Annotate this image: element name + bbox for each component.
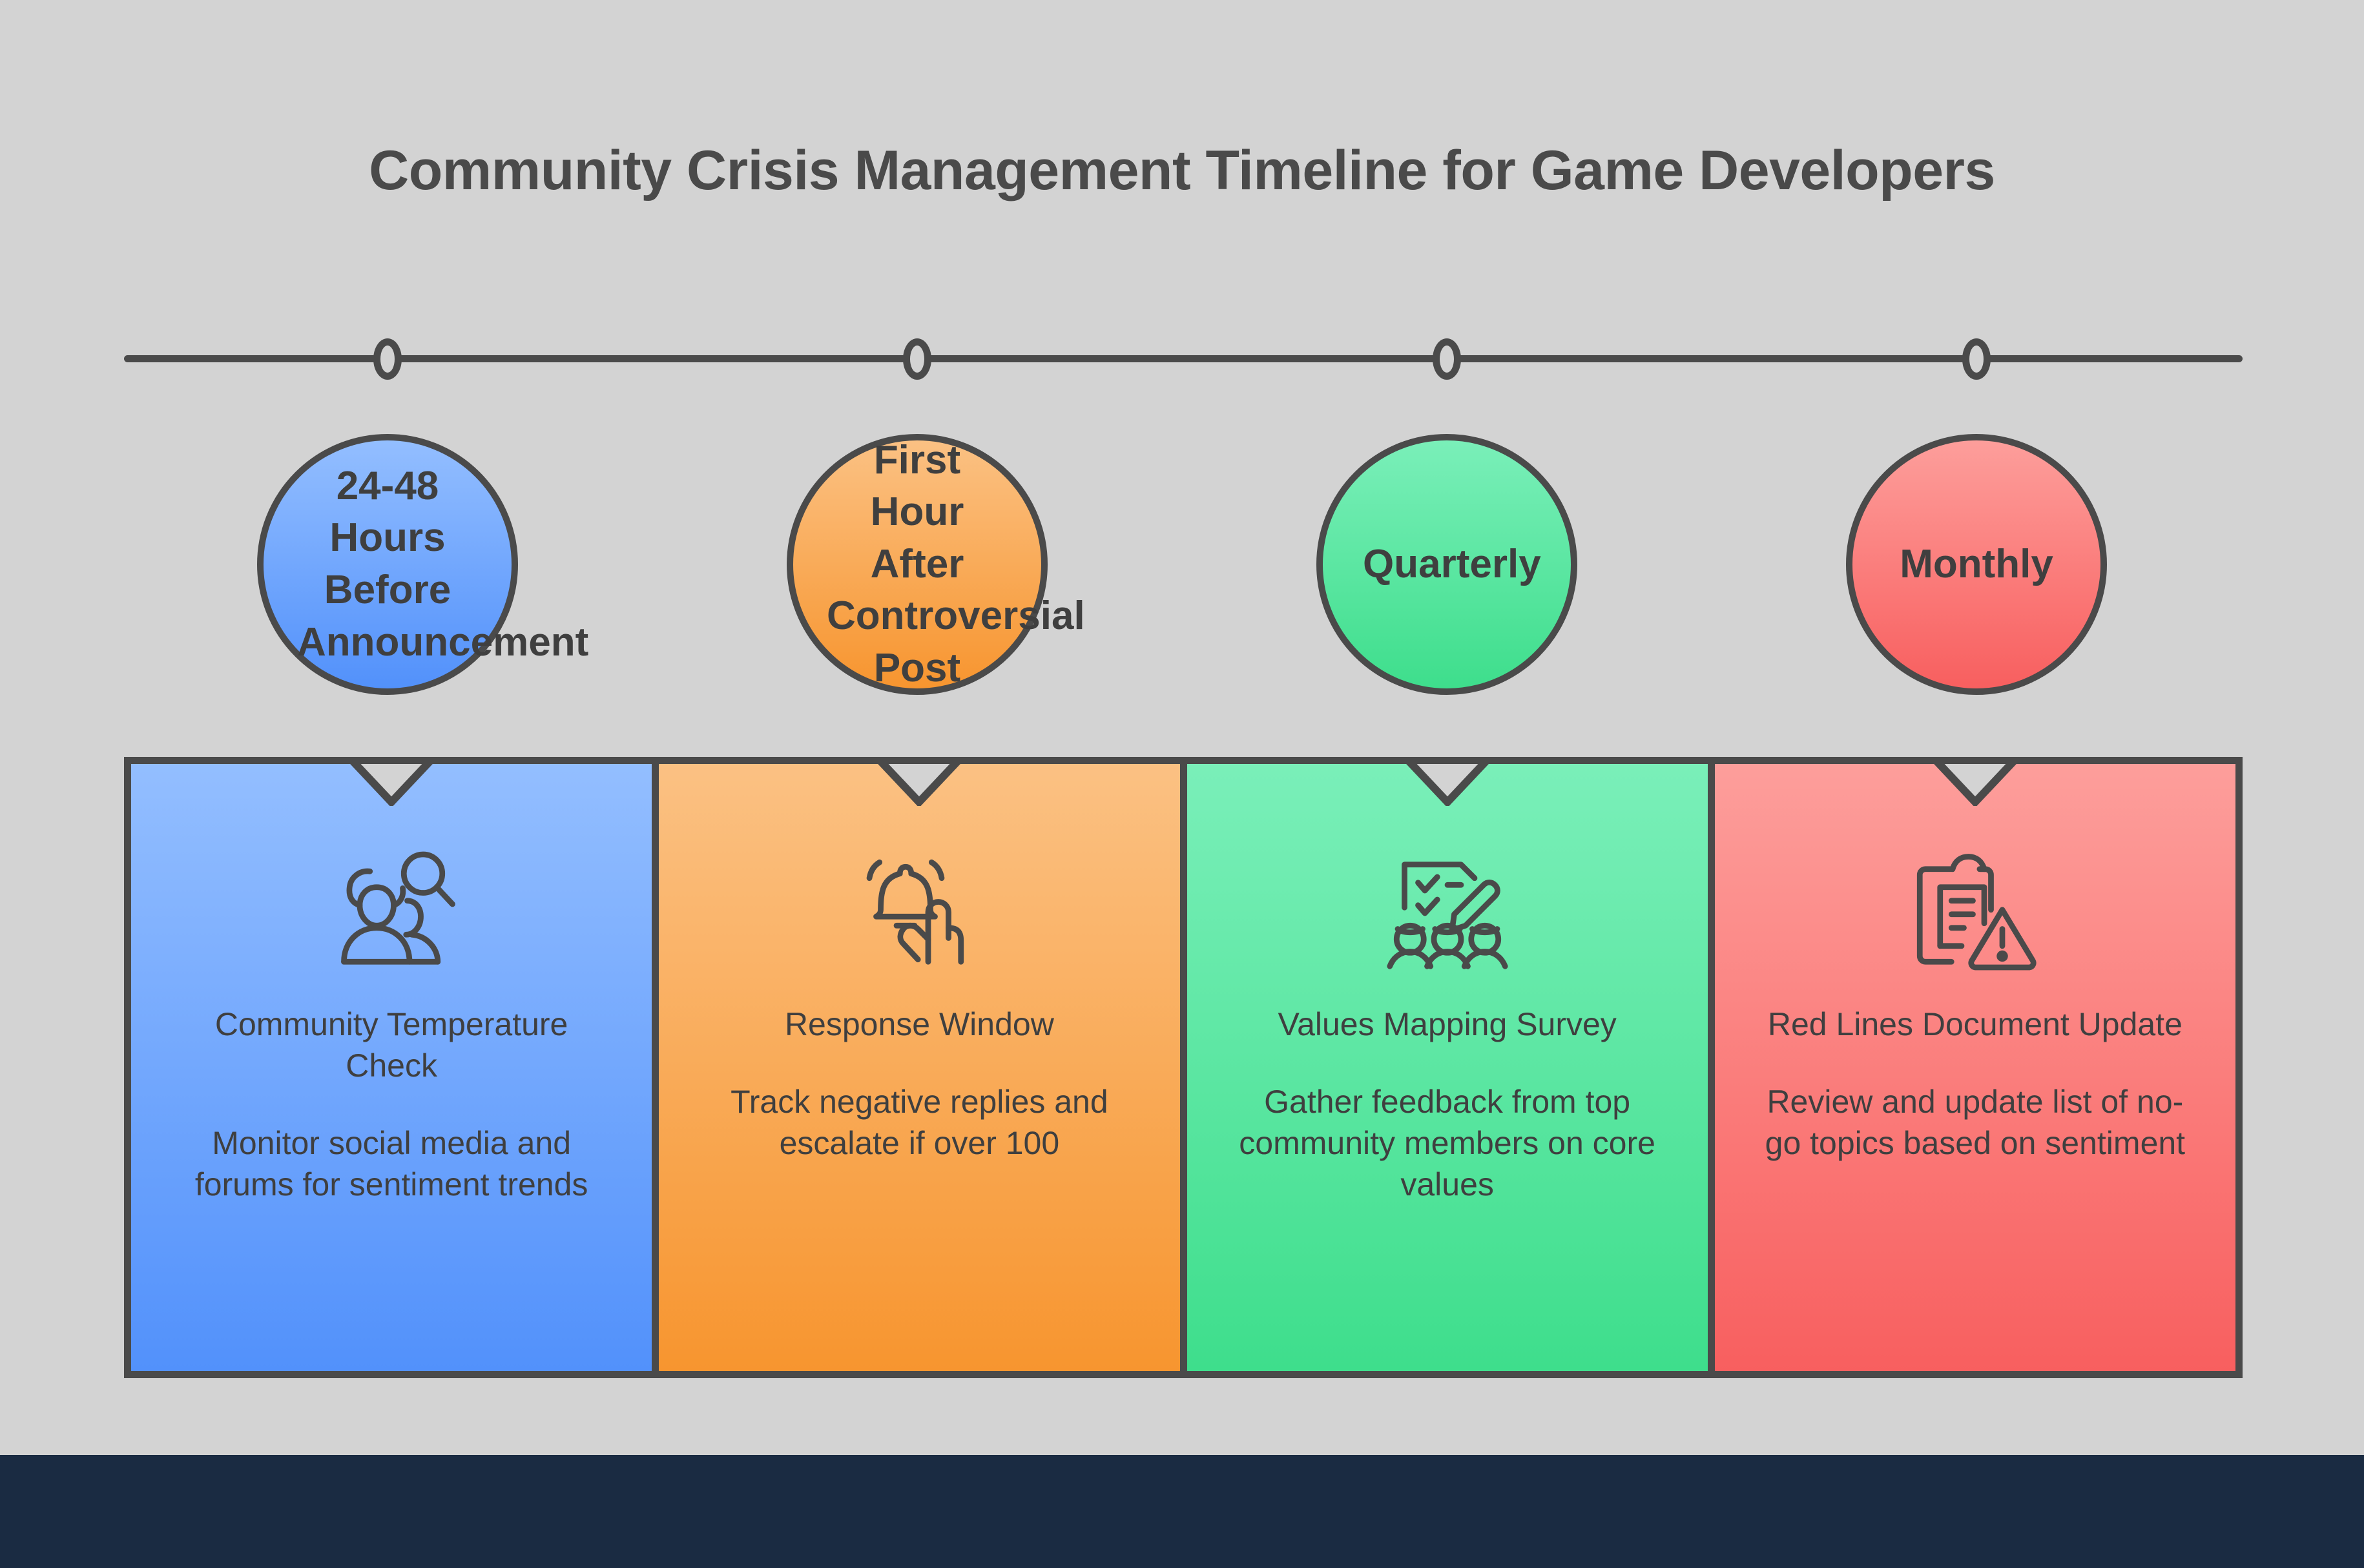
panel-notch-icon	[1933, 764, 2018, 806]
timeline-node-4	[1962, 338, 1991, 380]
footer-band	[0, 1455, 2364, 1568]
period-bubble-3[interactable]: Quarterly	[1316, 434, 1577, 695]
timeline-node-1	[373, 338, 402, 380]
panel-title: Community Temperature Check	[173, 1004, 610, 1086]
panel-strip: Community Temperature Check Monitor soci…	[124, 757, 2243, 1378]
period-bubble-label: 24-48 Hours Before Announcement	[297, 460, 478, 668]
period-bubble-2[interactable]: First Hour After Controversial Post	[787, 434, 1048, 695]
people-search-icon	[324, 848, 459, 974]
period-bubble-label: First Hour After Controversial Post	[827, 435, 1008, 695]
panel-values-mapping-survey[interactable]: Values Mapping Survey Gather feedback fr…	[1180, 764, 1708, 1371]
panel-description: Track negative replies and escalate if o…	[696, 1081, 1143, 1164]
survey-people-icon	[1380, 848, 1515, 974]
panel-notch-icon	[349, 764, 434, 806]
panel-red-lines-document-update[interactable]: Red Lines Document Update Review and upd…	[1708, 764, 2235, 1371]
period-bubble-label: Monthly	[1892, 539, 2060, 591]
period-bubble-4[interactable]: Monthly	[1846, 434, 2107, 695]
panel-notch-icon	[876, 764, 962, 806]
panel-title: Values Mapping Survey	[1229, 1004, 1666, 1045]
period-bubble-label: Quarterly	[1363, 539, 1531, 591]
panel-notch-icon	[1405, 764, 1490, 806]
panel-description: Gather feedback from top community membe…	[1223, 1081, 1671, 1205]
period-bubble-1[interactable]: 24-48 Hours Before Announcement	[257, 434, 518, 695]
panel-description: Review and update list of no-go topics b…	[1751, 1081, 2199, 1164]
panel-description: Monitor social media and forums for sent…	[167, 1122, 615, 1205]
bell-tap-icon	[851, 848, 987, 974]
page-title: Community Crisis Management Timeline for…	[0, 139, 2364, 203]
panel-response-window[interactable]: Response Window Track negative replies a…	[652, 764, 1179, 1371]
panel-title: Response Window	[701, 1004, 1138, 1045]
timeline-node-3	[1433, 338, 1461, 380]
timeline-node-2	[903, 338, 931, 380]
panel-community-temperature-check[interactable]: Community Temperature Check Monitor soci…	[131, 764, 652, 1371]
timeline-axis	[124, 355, 2243, 362]
timeline-infographic: Community Crisis Management Timeline for…	[0, 0, 2364, 1568]
panel-title: Red Lines Document Update	[1756, 1004, 2193, 1045]
clipboard-warning-icon	[1907, 848, 2043, 974]
